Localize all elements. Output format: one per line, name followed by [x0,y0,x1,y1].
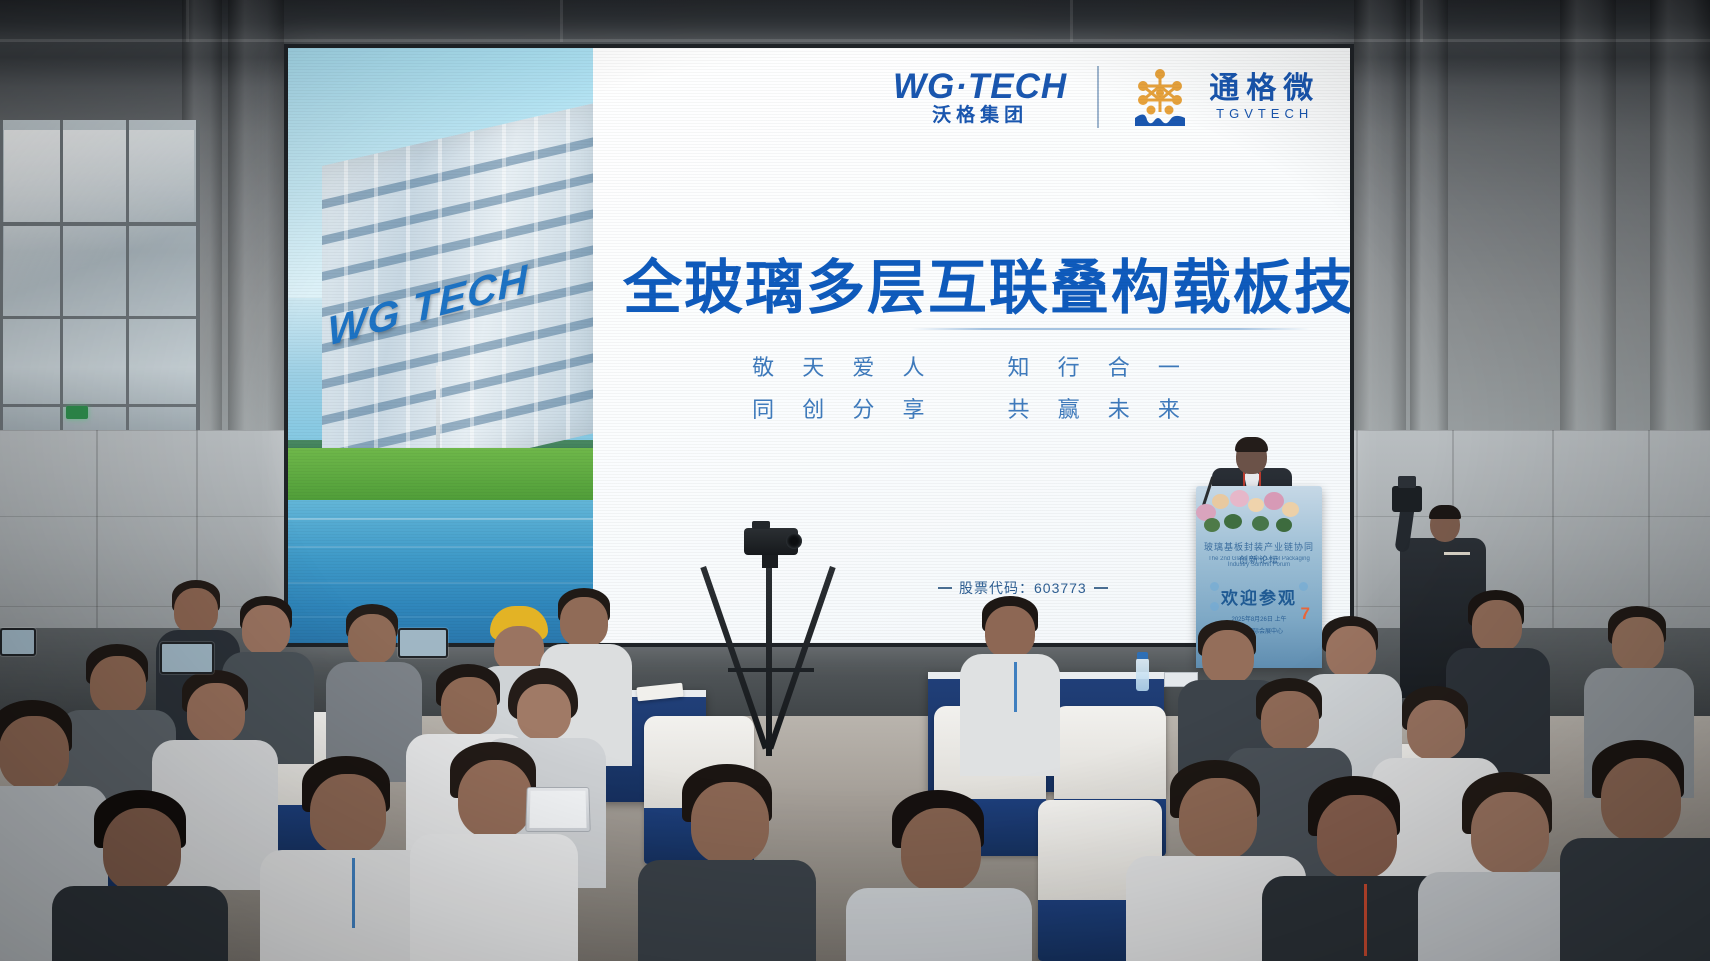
photo-scene: WG TECH WG·TECH 沃格集团 [0,0,1710,961]
slide-logo-bar: WG·TECH 沃格集团 [893,66,1320,128]
dslr-camera [1392,486,1422,512]
motto-cell: 敬 天 爱 人 [752,350,935,382]
smartphone-raised [398,628,448,658]
camera-flash [1398,476,1416,488]
exit-sign [66,406,88,419]
tgvtech-chinese-name: 通格微 [1209,74,1320,104]
wgtech-chinese-name: 沃格集团 [932,106,1028,125]
slide-motto-block: 敬 天 爱 人 知 行 合 一 同 创 分 享 共 赢 未 来 [593,350,1350,434]
slide-title: 全玻璃多层互联叠构载板技术 [623,240,1320,325]
window-wall [0,120,200,450]
lectern-welcome-text: 欢迎参观 [1204,584,1314,609]
tripod-head [762,555,778,568]
wgtech-wordmark: WG·TECH [893,69,1067,104]
bottle-cap [1137,652,1148,659]
motto-cell: 知 行 合 一 [1008,350,1191,382]
stock-code-badge: 股票代码：603773 [938,578,1108,598]
tripod-spreader [728,668,814,672]
logo-divider [1097,66,1099,128]
motto-row: 敬 天 爱 人 知 行 合 一 [593,350,1350,382]
badge-rule-right [1094,587,1108,589]
tgvtech-logo: 通格微 TGVTECH [1129,66,1320,128]
water-feature [288,500,593,643]
slide-photo-building: WG TECH [288,48,593,643]
wall-pilaster [1410,0,1448,430]
photographer-hair [1429,505,1461,519]
tripod-center-column [766,566,772,756]
motto-cell: 共 赢 未 来 [1008,392,1191,424]
laptop [525,787,591,832]
stock-code-text: 股票代码：603773 [959,578,1087,598]
camcorder-handle [752,521,770,529]
water-bottle [1136,658,1149,691]
flower-arrangement [1190,488,1316,540]
smartphone-raised [160,642,214,674]
smartphone-raised [0,628,36,656]
wall-pilaster [1354,0,1406,430]
wall-pilaster [1560,0,1616,430]
motto-cell: 同 创 分 享 [752,392,935,424]
lectern-title-en: The 2nd Glass Panel Level Packaging Indu… [1204,556,1314,568]
camcorder-lens [786,533,802,549]
title-underline-rule [911,328,1310,330]
photographer-lanyard [1444,552,1470,555]
molecule-node-icon [1129,66,1191,128]
wgtech-logo: WG·TECH 沃格集团 [893,69,1067,125]
speaker-hair [1235,437,1268,452]
wall-pilaster [228,0,284,430]
led-presentation-screen: WG TECH WG·TECH 沃格集团 [288,48,1350,643]
wall-pilaster [1650,0,1710,430]
badge-rule-left [938,587,952,589]
motto-row: 同 创 分 享 共 赢 未 来 [593,392,1350,424]
tgvtech-wordmark: TGVTECH [1216,107,1313,120]
